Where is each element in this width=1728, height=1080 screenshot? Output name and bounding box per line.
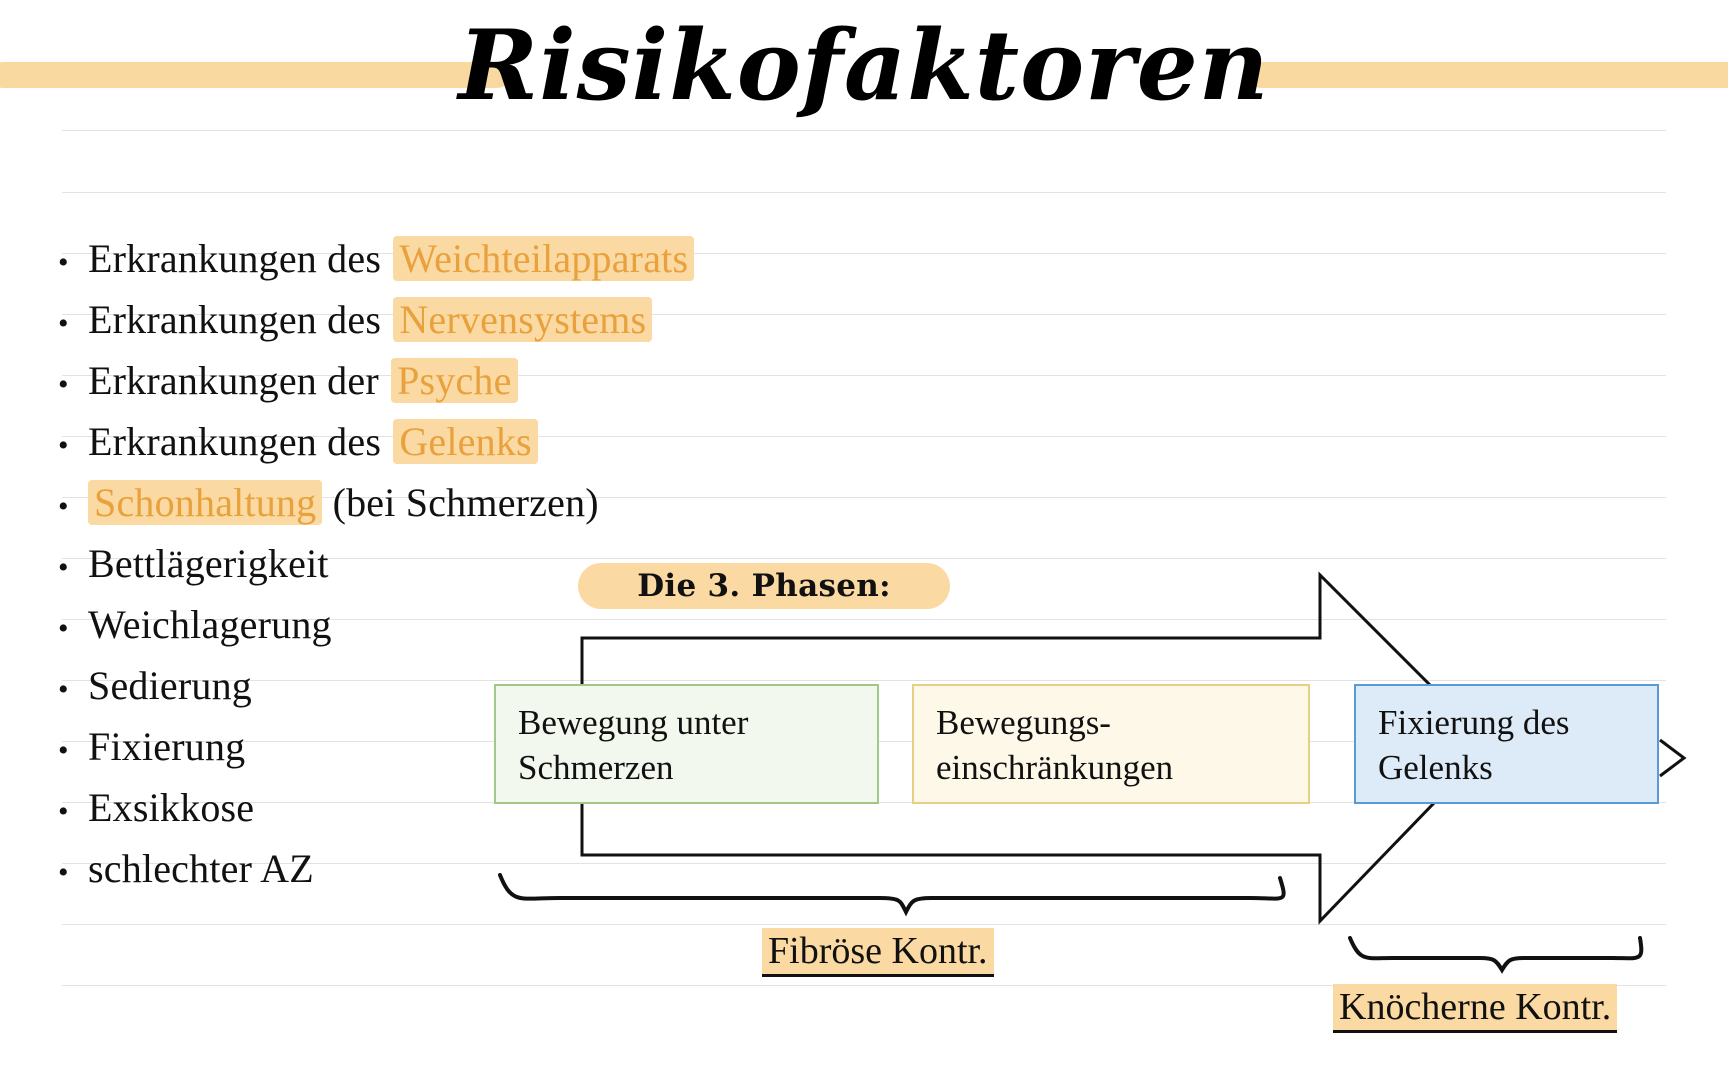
bullet-icon: • bbox=[58, 781, 88, 842]
phase-box-2-line1: Bewegungs- bbox=[936, 700, 1290, 745]
list-item-text: Erkrankungen der Psyche bbox=[88, 350, 518, 411]
phase-box-3-line2: Gelenks bbox=[1378, 745, 1639, 790]
list-item-text: Exsikkose bbox=[88, 777, 254, 838]
list-item-text: Bettlägerigkeit bbox=[88, 533, 329, 594]
arrow-head-right bbox=[1660, 740, 1684, 776]
list-item-text: schlechter AZ bbox=[88, 838, 314, 899]
caption-fibrous-contracture: Fibröse Kontr. bbox=[762, 928, 994, 977]
list-item-text: Sedierung bbox=[88, 655, 252, 716]
list-item: • Erkrankungen der Psyche bbox=[58, 350, 818, 411]
list-item-text: Erkrankungen des Gelenks bbox=[88, 411, 538, 472]
bullet-icon: • bbox=[58, 293, 88, 354]
phase-box-1-line1: Bewegung unter bbox=[518, 700, 859, 745]
list-item-text: Erkrankungen des Weichteilapparats bbox=[88, 228, 694, 289]
bullet-icon: • bbox=[58, 537, 88, 598]
page-title: Risikofaktoren bbox=[0, 0, 1728, 132]
list-item: • Erkrankungen des Nervensystems bbox=[58, 289, 818, 350]
highlight: Schonhaltung bbox=[88, 480, 322, 525]
highlight: Weichteilapparats bbox=[393, 236, 694, 281]
list-item-text: Weichlagerung bbox=[88, 594, 332, 655]
list-item-text: Erkrankungen des Nervensystems bbox=[88, 289, 652, 350]
bullet-icon: • bbox=[58, 476, 88, 537]
phase-box-1-line2: Schmerzen bbox=[518, 745, 859, 790]
bullet-icon: • bbox=[58, 842, 88, 903]
bullet-icon: • bbox=[58, 354, 88, 415]
phase-box-2-line2: einschränkungen bbox=[936, 745, 1290, 790]
phase-box-3: Fixierung des Gelenks bbox=[1354, 684, 1659, 804]
phases-heading-label: Die 3. Phasen: bbox=[578, 563, 950, 609]
bullet-icon: • bbox=[58, 720, 88, 781]
list-item: • Schonhaltung (bei Schmerzen) bbox=[58, 472, 818, 533]
bullet-icon: • bbox=[58, 659, 88, 720]
highlight: Gelenks bbox=[393, 419, 537, 464]
caption-bony-contracture: Knöcherne Kontr. bbox=[1333, 984, 1617, 1033]
phase-box-3-line1: Fixierung des bbox=[1378, 700, 1639, 745]
bullet-icon: • bbox=[58, 598, 88, 659]
brace-bony bbox=[1350, 938, 1641, 970]
phase-box-1: Bewegung unter Schmerzen bbox=[494, 684, 879, 804]
phases-heading-pill: Die 3. Phasen: bbox=[578, 563, 950, 609]
highlight: Nervensystems bbox=[393, 297, 652, 342]
bullet-icon: • bbox=[58, 415, 88, 476]
list-item: • Erkrankungen des Gelenks bbox=[58, 411, 818, 472]
bullet-icon: • bbox=[58, 232, 88, 293]
highlight: Psyche bbox=[391, 358, 518, 403]
phase-box-2: Bewegungs- einschränkungen bbox=[912, 684, 1310, 804]
list-item-text: Fixierung bbox=[88, 716, 245, 777]
list-item: • schlechter AZ bbox=[58, 838, 818, 899]
list-item: • Erkrankungen des Weichteilapparats bbox=[58, 228, 818, 289]
list-item-text: Schonhaltung (bei Schmerzen) bbox=[88, 472, 599, 533]
